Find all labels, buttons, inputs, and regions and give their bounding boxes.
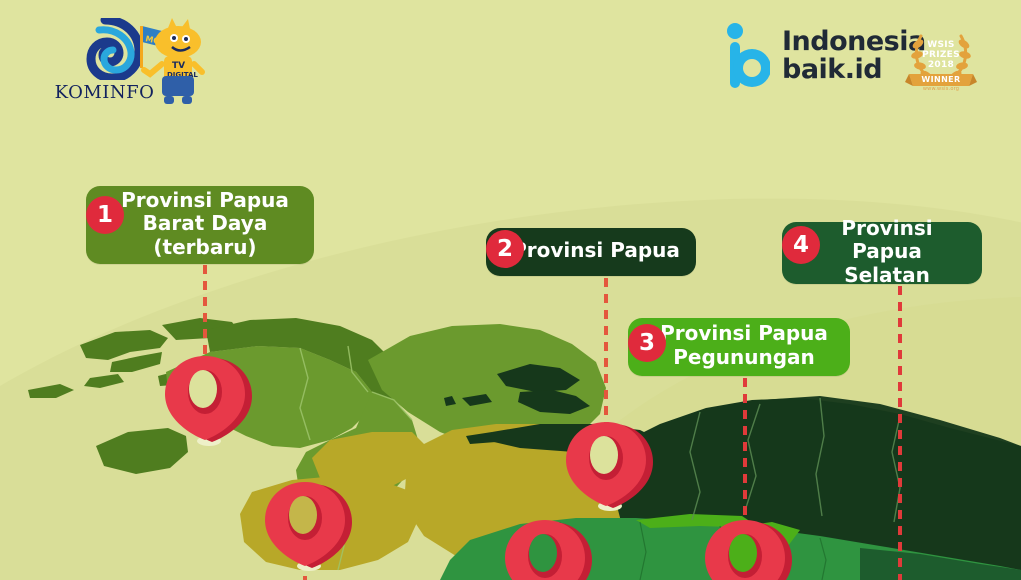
callout-3-label: Provinsi Papua Pegunungan: [660, 322, 828, 369]
header: KOMINFO MODI TV DIGITAL: [0, 0, 1021, 120]
ib-monogram-icon: [722, 22, 770, 90]
svg-text:TV: TV: [172, 61, 185, 71]
callout-1[interactable]: 1 Provinsi Papua Barat Daya (terbaru): [86, 186, 314, 264]
callout-3[interactable]: 3 Provinsi Papua Pegunungan: [628, 318, 850, 376]
callout-1-label: Provinsi Papua Barat Daya (terbaru): [121, 189, 289, 260]
callout-4[interactable]: 4 Provinsi Papua Selatan: [782, 222, 982, 284]
wsis-ribbon-text: WINNER: [909, 75, 973, 84]
indonesiabaik-logo: Indonesia baik.id: [722, 22, 926, 90]
callout-2[interactable]: 2 Provinsi Papua: [486, 228, 696, 276]
callout-4-label: Provinsi Papua Selatan: [808, 217, 966, 288]
wsis-url-text: www.wsis.org: [905, 86, 977, 92]
callout-1-badge: 1: [86, 196, 124, 234]
infographic-canvas: KOMINFO MODI TV DIGITAL: [0, 0, 1021, 580]
callout-4-badge: 4: [782, 226, 820, 264]
wsis-line-3: 2018: [905, 60, 977, 70]
wsis-award-badge: WSIS PRIZES 2018 WINNER www.wsis.org: [905, 20, 977, 100]
tv-digital-mascot: MODI TV DIGITAL: [128, 14, 206, 106]
wsis-line-2: PRIZES: [905, 50, 977, 60]
wsis-badge-text: WSIS PRIZES 2018: [905, 40, 977, 70]
callout-3-badge: 3: [628, 324, 666, 362]
callout-2-label: Provinsi Papua: [512, 239, 680, 263]
wsis-line-1: WSIS: [905, 40, 977, 50]
callout-2-badge: 2: [486, 230, 524, 268]
